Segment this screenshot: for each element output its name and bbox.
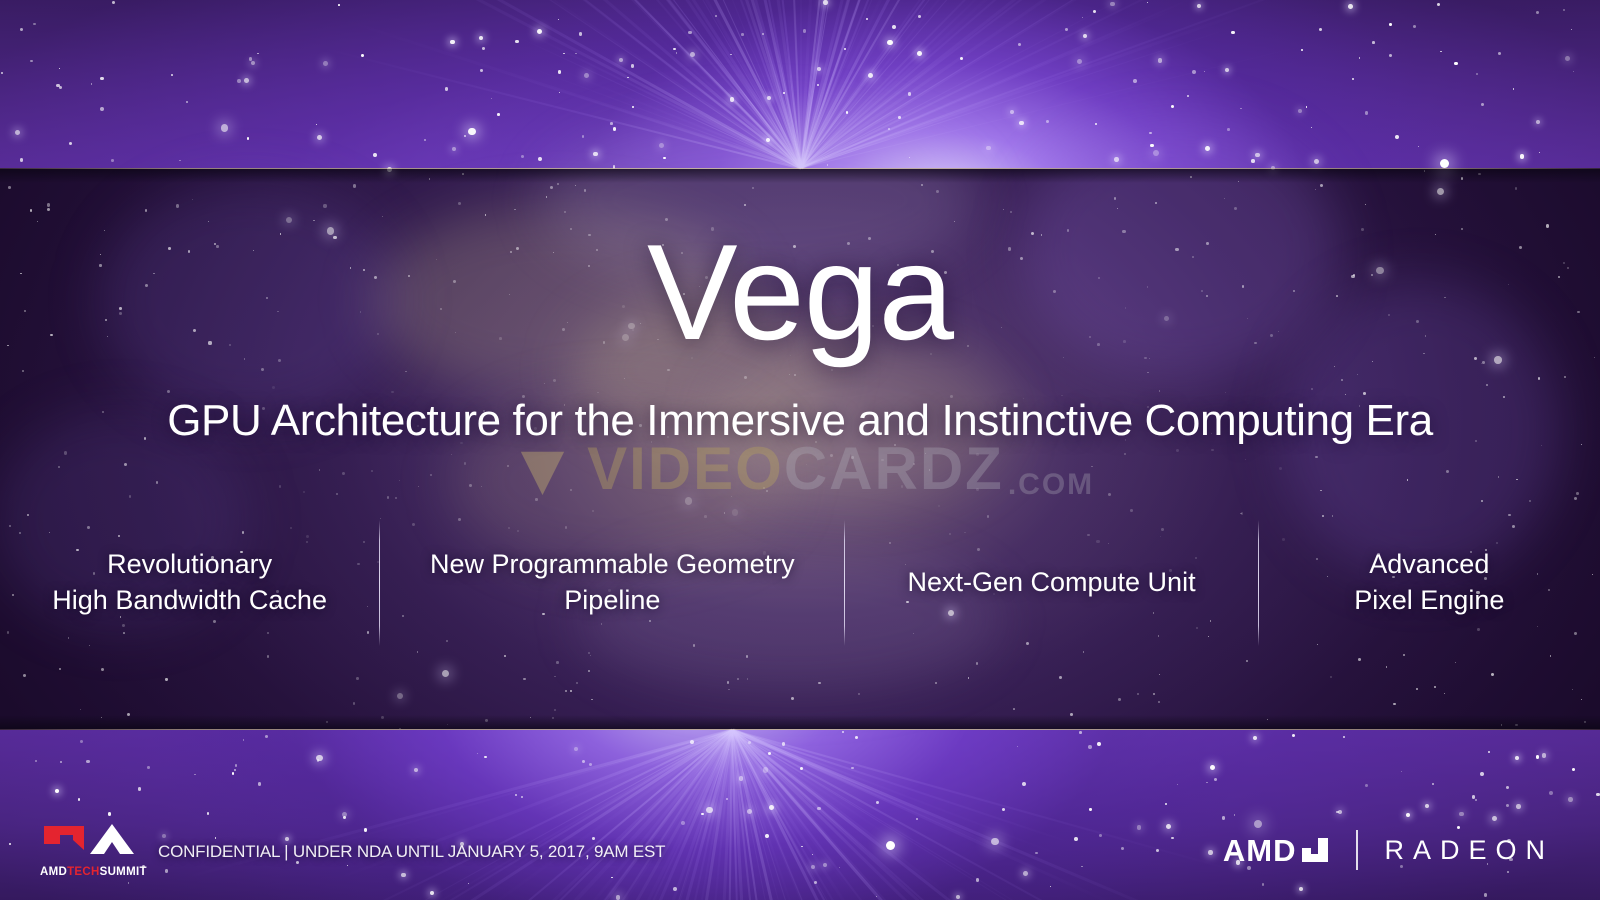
brand-separator	[1356, 830, 1358, 870]
feature-line-1: New Programmable Geometry	[430, 549, 795, 579]
feature-item-advanced-pixel-engine: Advanced Pixel Engine	[1259, 547, 1600, 619]
radeon-wordmark: RADEON	[1384, 837, 1554, 864]
feature-item-high-bandwidth-cache: Revolutionary High Bandwidth Cache	[0, 547, 379, 619]
wordmark-summit: SUMMIT	[100, 866, 147, 878]
feature-line-1: Revolutionary	[107, 549, 272, 579]
tech-summit-wordmark: AMDTECHSUMMIT	[40, 866, 144, 878]
page-title: Vega	[0, 222, 1600, 363]
page-subtitle: GPU Architecture for the Immersive and I…	[0, 396, 1600, 446]
tech-summit-mark-icon	[42, 820, 142, 858]
slide-canvas: ▼ VIDEO CARDZ .COM Vega GPU Architecture…	[0, 0, 1600, 900]
confidential-notice: CONFIDENTIAL | UNDER NDA UNTIL JANUARY 5…	[158, 842, 665, 862]
amd-wordmark: AMD	[1223, 835, 1297, 866]
feature-item-next-gen-compute-unit: Next-Gen Compute Unit	[845, 565, 1257, 601]
slide-content: ▼ VIDEO CARDZ .COM Vega GPU Architecture…	[0, 0, 1600, 900]
feature-line-1: Advanced	[1369, 549, 1489, 579]
feature-line-2: Pipeline	[564, 585, 660, 615]
amd-tech-summit-logo: AMDTECHSUMMIT	[40, 820, 144, 878]
feature-item-geometry-pipeline: New Programmable Geometry Pipeline	[380, 547, 844, 619]
feature-line-1: Next-Gen Compute Unit	[907, 567, 1195, 597]
wordmark-amd: AMD	[40, 866, 67, 878]
brand-lockup: AMD RADEON	[1223, 830, 1554, 870]
watermark-cardz-text: CARDZ	[784, 439, 1004, 499]
wordmark-tech: TECH	[67, 866, 100, 878]
feature-row: Revolutionary High Bandwidth Cache New P…	[0, 520, 1600, 646]
watermark-com-text: .COM	[1008, 470, 1094, 500]
amd-arrow-icon	[1300, 836, 1330, 864]
feature-line-2: Pixel Engine	[1354, 585, 1504, 615]
watermark-video-text: VIDEO	[587, 439, 784, 499]
amd-logo: AMD	[1223, 835, 1331, 866]
slide-footer: AMDTECHSUMMIT CONFIDENTIAL | UNDER NDA U…	[0, 730, 1600, 900]
feature-line-2: High Bandwidth Cache	[52, 585, 327, 615]
